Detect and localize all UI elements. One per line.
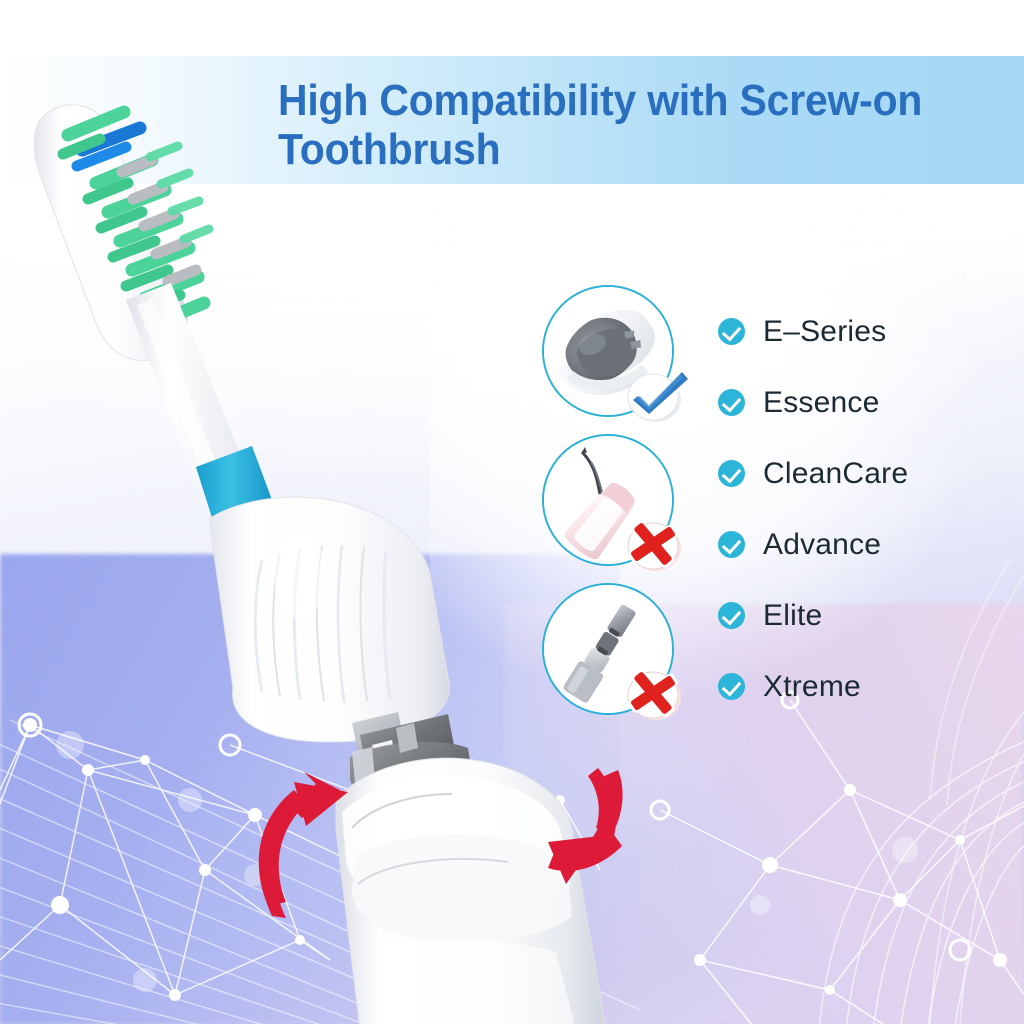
check-circle-icon bbox=[718, 389, 745, 416]
compat-label: Essence bbox=[763, 386, 879, 420]
rotate-left-arrow bbox=[259, 772, 348, 918]
compat-label: E–Series bbox=[763, 315, 886, 349]
incompatible-cross-badge bbox=[622, 508, 694, 574]
list-item: Elite bbox=[718, 580, 1018, 651]
check-circle-icon bbox=[718, 318, 745, 345]
list-item: CleanCare bbox=[718, 438, 1018, 509]
compat-label: CleanCare bbox=[763, 457, 908, 491]
incompatible-cross-badge bbox=[622, 657, 694, 723]
compat-label: Xtreme bbox=[763, 670, 861, 704]
check-circle-icon bbox=[718, 602, 745, 629]
photo-circle-snap-on-shaft bbox=[542, 583, 674, 715]
brush-head-base bbox=[209, 497, 449, 742]
photo-circle-pink-handle bbox=[542, 434, 674, 566]
list-item: E–Series bbox=[718, 296, 1018, 367]
brush-handle bbox=[336, 758, 606, 1024]
compatible-check-badge bbox=[622, 359, 694, 425]
list-item: Advance bbox=[718, 509, 1018, 580]
photo-circle-screw-on-socket bbox=[542, 285, 674, 417]
check-circle-icon bbox=[718, 673, 745, 700]
check-circle-icon bbox=[718, 460, 745, 487]
compat-label: Elite bbox=[763, 599, 822, 633]
compat-label: Advance bbox=[763, 528, 881, 562]
check-circle-icon bbox=[718, 531, 745, 558]
compatibility-list: E–Series Essence CleanCare Advance Elite… bbox=[718, 296, 1018, 722]
list-item: Essence bbox=[718, 367, 1018, 438]
product-infographic: High Compatibility with Screw-on Toothbr… bbox=[0, 0, 1024, 1024]
list-item: Xtreme bbox=[718, 651, 1018, 722]
